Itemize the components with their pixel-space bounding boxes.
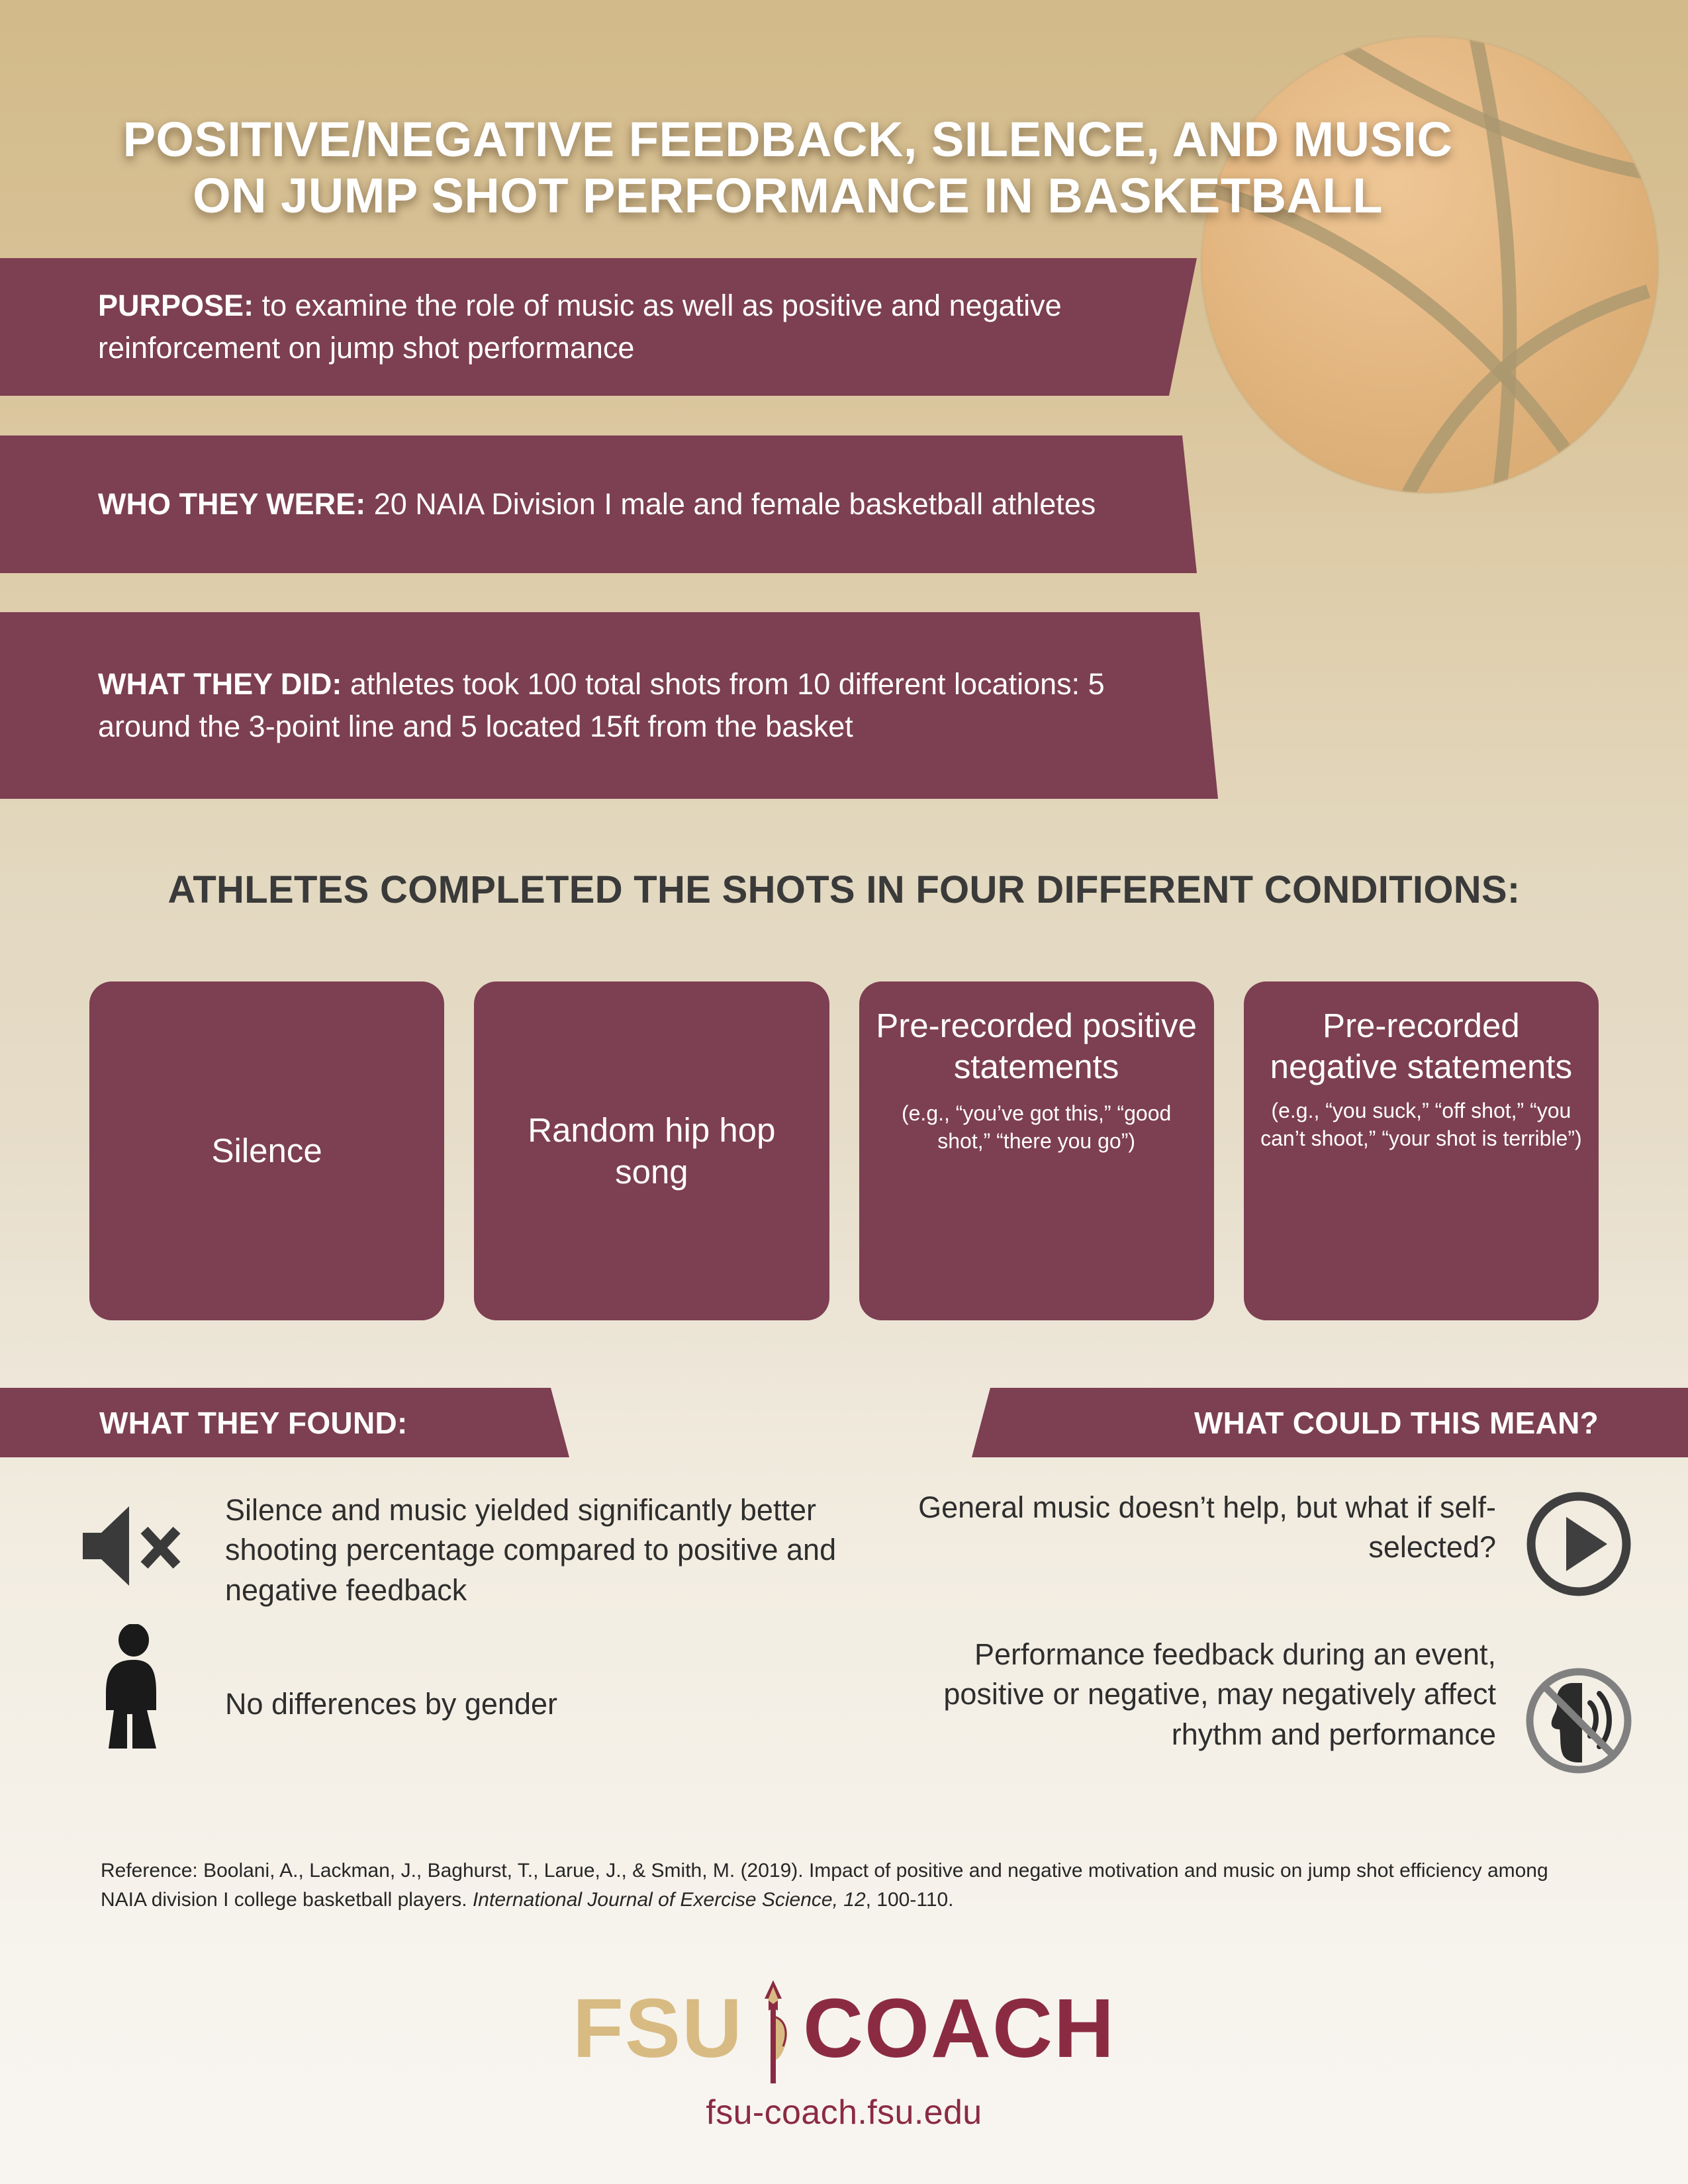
no-talking-icon bbox=[1516, 1635, 1642, 1780]
findings-column: Silence and music yielded significantly … bbox=[73, 1488, 867, 1747]
condition-card-example: (e.g., “you suck,” “off shot,” “you can’… bbox=[1258, 1097, 1584, 1152]
purpose-colon: : bbox=[244, 289, 254, 322]
footer-logo-block: FSU COACH fsu-coach.fsu.edu bbox=[0, 1979, 1688, 2132]
finding-text: Silence and music yielded significantly … bbox=[225, 1490, 867, 1610]
did-text: WHAT THEY DID: athletes took 100 total s… bbox=[98, 663, 1190, 748]
who-text: WHO THEY WERE: 20 NAIA Division I male a… bbox=[98, 483, 1190, 525]
basketball-graphic bbox=[1185, 13, 1675, 503]
female-person-icon bbox=[73, 1627, 205, 1747]
condition-card-title: Pre-recorded negative statements bbox=[1258, 1005, 1584, 1087]
reference-text: Reference: Boolani, A., Lackman, J., Bag… bbox=[101, 1856, 1590, 1914]
purpose-label: PURPOSE bbox=[98, 289, 244, 322]
title-line-1: POSITIVE/NEGATIVE FEEDBACK, SILENCE, AND… bbox=[0, 111, 1575, 168]
reference-journal: International Journal of Exercise Scienc… bbox=[473, 1889, 866, 1911]
condition-card-hip-hop: Random hip hop song bbox=[474, 981, 829, 1320]
purpose-text: PURPOSE: to examine the role of music as… bbox=[98, 285, 1190, 369]
did-banner: WHAT THEY DID: athletes took 100 total s… bbox=[0, 612, 1218, 799]
did-colon: : bbox=[332, 667, 342, 701]
finding-item: No differences by gender bbox=[73, 1627, 867, 1747]
logo-fsu-text: FSU bbox=[573, 1981, 743, 2075]
condition-card-positive: Pre-recorded positive statements (e.g., … bbox=[859, 981, 1214, 1320]
fsu-coach-logo: FSU COACH bbox=[573, 1979, 1115, 2078]
page-title: POSITIVE/NEGATIVE FEEDBACK, SILENCE, AND… bbox=[0, 111, 1575, 225]
who-body: 20 NAIA Division I male and female baske… bbox=[365, 487, 1096, 521]
condition-card-title: Random hip hop song bbox=[489, 1109, 814, 1193]
condition-card-example: (e.g., “you’ve got this,” “good shot,” “… bbox=[874, 1100, 1199, 1155]
logo-coach-text: COACH bbox=[803, 1981, 1115, 2075]
implication-item: Performance feedback during an event, po… bbox=[887, 1635, 1642, 1780]
implication-text: General music doesn’t help, but what if … bbox=[887, 1488, 1496, 1568]
did-label: WHAT THEY DID bbox=[98, 667, 332, 701]
what-they-found-header: WHAT THEY FOUND: bbox=[0, 1388, 569, 1457]
finding-item: Silence and music yielded significantly … bbox=[73, 1490, 867, 1610]
what-could-this-mean-header: WHAT COULD THIS MEAN? bbox=[972, 1388, 1688, 1457]
footer-url: fsu-coach.fsu.edu bbox=[0, 2093, 1688, 2132]
finding-text: No differences by gender bbox=[225, 1650, 867, 1724]
condition-card-title: Pre-recorded positive statements bbox=[874, 1005, 1199, 1087]
who-banner: WHO THEY WERE: 20 NAIA Division I male a… bbox=[0, 435, 1197, 573]
reference-suffix: , 100-110. bbox=[866, 1889, 954, 1911]
implication-text: Performance feedback during an event, po… bbox=[887, 1635, 1496, 1754]
infographic-page: POSITIVE/NEGATIVE FEEDBACK, SILENCE, AND… bbox=[0, 0, 1688, 2184]
conditions-card-row: Silence Random hip hop song Pre-recorded… bbox=[89, 981, 1599, 1320]
spear-arrow-icon bbox=[743, 1979, 803, 2078]
play-circle-icon bbox=[1516, 1488, 1642, 1600]
conditions-heading: ATHLETES COMPLETED THE SHOTS IN FOUR DIF… bbox=[0, 868, 1688, 912]
who-label: WHO THEY WERE bbox=[98, 487, 355, 521]
purpose-banner: PURPOSE: to examine the role of music as… bbox=[0, 258, 1197, 396]
what-could-this-mean-label: WHAT COULD THIS MEAN? bbox=[1194, 1405, 1599, 1441]
what-they-found-label: WHAT THEY FOUND: bbox=[99, 1405, 408, 1441]
condition-card-negative: Pre-recorded negative statements (e.g., … bbox=[1244, 981, 1599, 1320]
implication-item: General music doesn’t help, but what if … bbox=[887, 1488, 1642, 1600]
who-colon: : bbox=[355, 487, 365, 521]
implications-column: General music doesn’t help, but what if … bbox=[887, 1488, 1642, 1780]
mute-speaker-icon bbox=[73, 1490, 205, 1588]
condition-card-silence: Silence bbox=[89, 981, 444, 1320]
title-line-2: ON JUMP SHOT PERFORMANCE IN BASKETBALL bbox=[0, 167, 1575, 224]
condition-card-title: Silence bbox=[211, 1130, 322, 1171]
